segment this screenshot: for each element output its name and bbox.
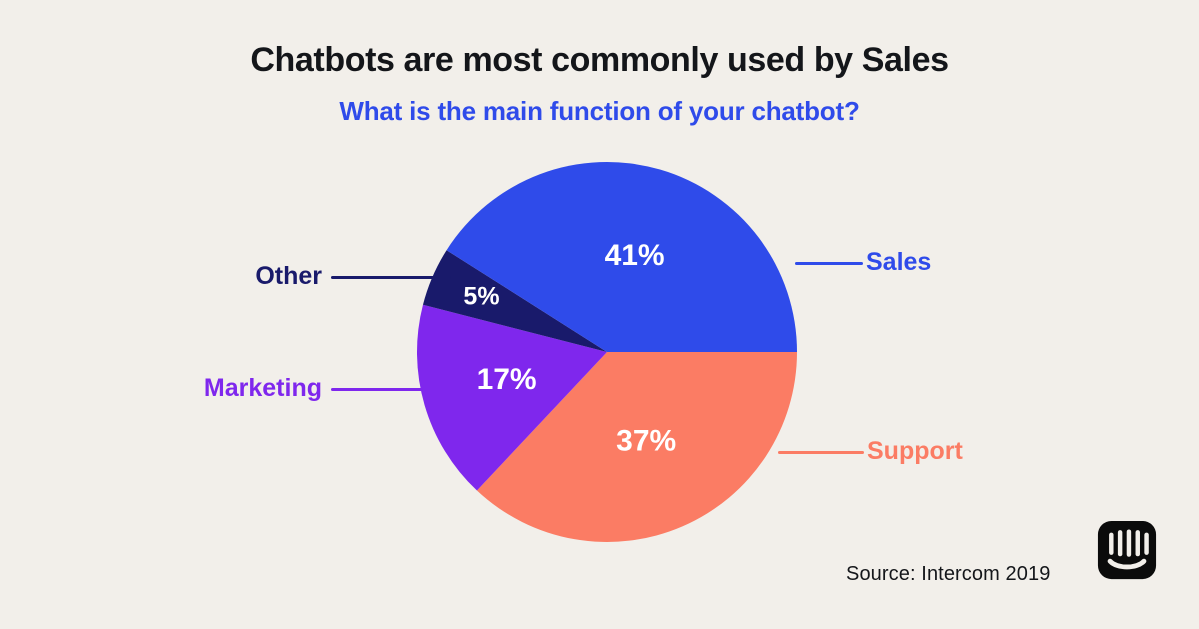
source-note: Source: Intercom 2019 [846, 563, 1050, 586]
slice-value-sales: 41% [605, 239, 665, 272]
slice-value-support: 37% [616, 425, 676, 458]
pie-slice-group [417, 162, 797, 542]
pie-label-support[interactable]: Support [867, 437, 963, 465]
leader-line-marketing [331, 388, 423, 391]
pie-svg: 37%17%5%41% [0, 0, 1199, 629]
pie-label-marketing[interactable]: Marketing [204, 374, 322, 402]
slice-value-other: 5% [463, 282, 499, 310]
pie-label-sales[interactable]: Sales [866, 248, 931, 276]
pie-chart-figure: Chatbots are most commonly used by Sales… [0, 0, 1199, 629]
leader-line-support [778, 451, 864, 454]
leader-line-other [331, 276, 451, 279]
leader-line-sales [795, 262, 863, 265]
pie-label-other[interactable]: Other [255, 262, 322, 290]
slice-value-marketing: 17% [477, 363, 537, 396]
intercom-logo [1096, 519, 1158, 581]
